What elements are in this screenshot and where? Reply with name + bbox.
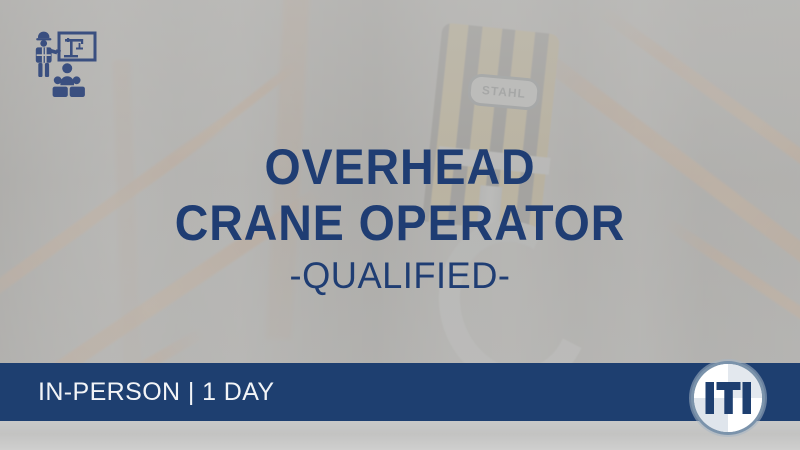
course-subtitle: -QUALIFIED- (8, 257, 792, 294)
course-title-line-1: OVERHEAD (28, 142, 772, 192)
course-format-banner: IN-PERSON | 1 DAY (0, 363, 800, 421)
iti-logo-badge (685, 355, 771, 441)
footer-strip (0, 421, 800, 450)
course-format-text: IN-PERSON | 1 DAY (38, 378, 275, 407)
course-promo-card: STAHL (0, 0, 800, 450)
instructor-led-training-icon (25, 29, 97, 101)
course-title-line-2: CRANE OPERATOR (28, 198, 772, 248)
course-title-block: OVERHEAD CRANE OPERATOR -QUALIFIED- (0, 142, 800, 294)
